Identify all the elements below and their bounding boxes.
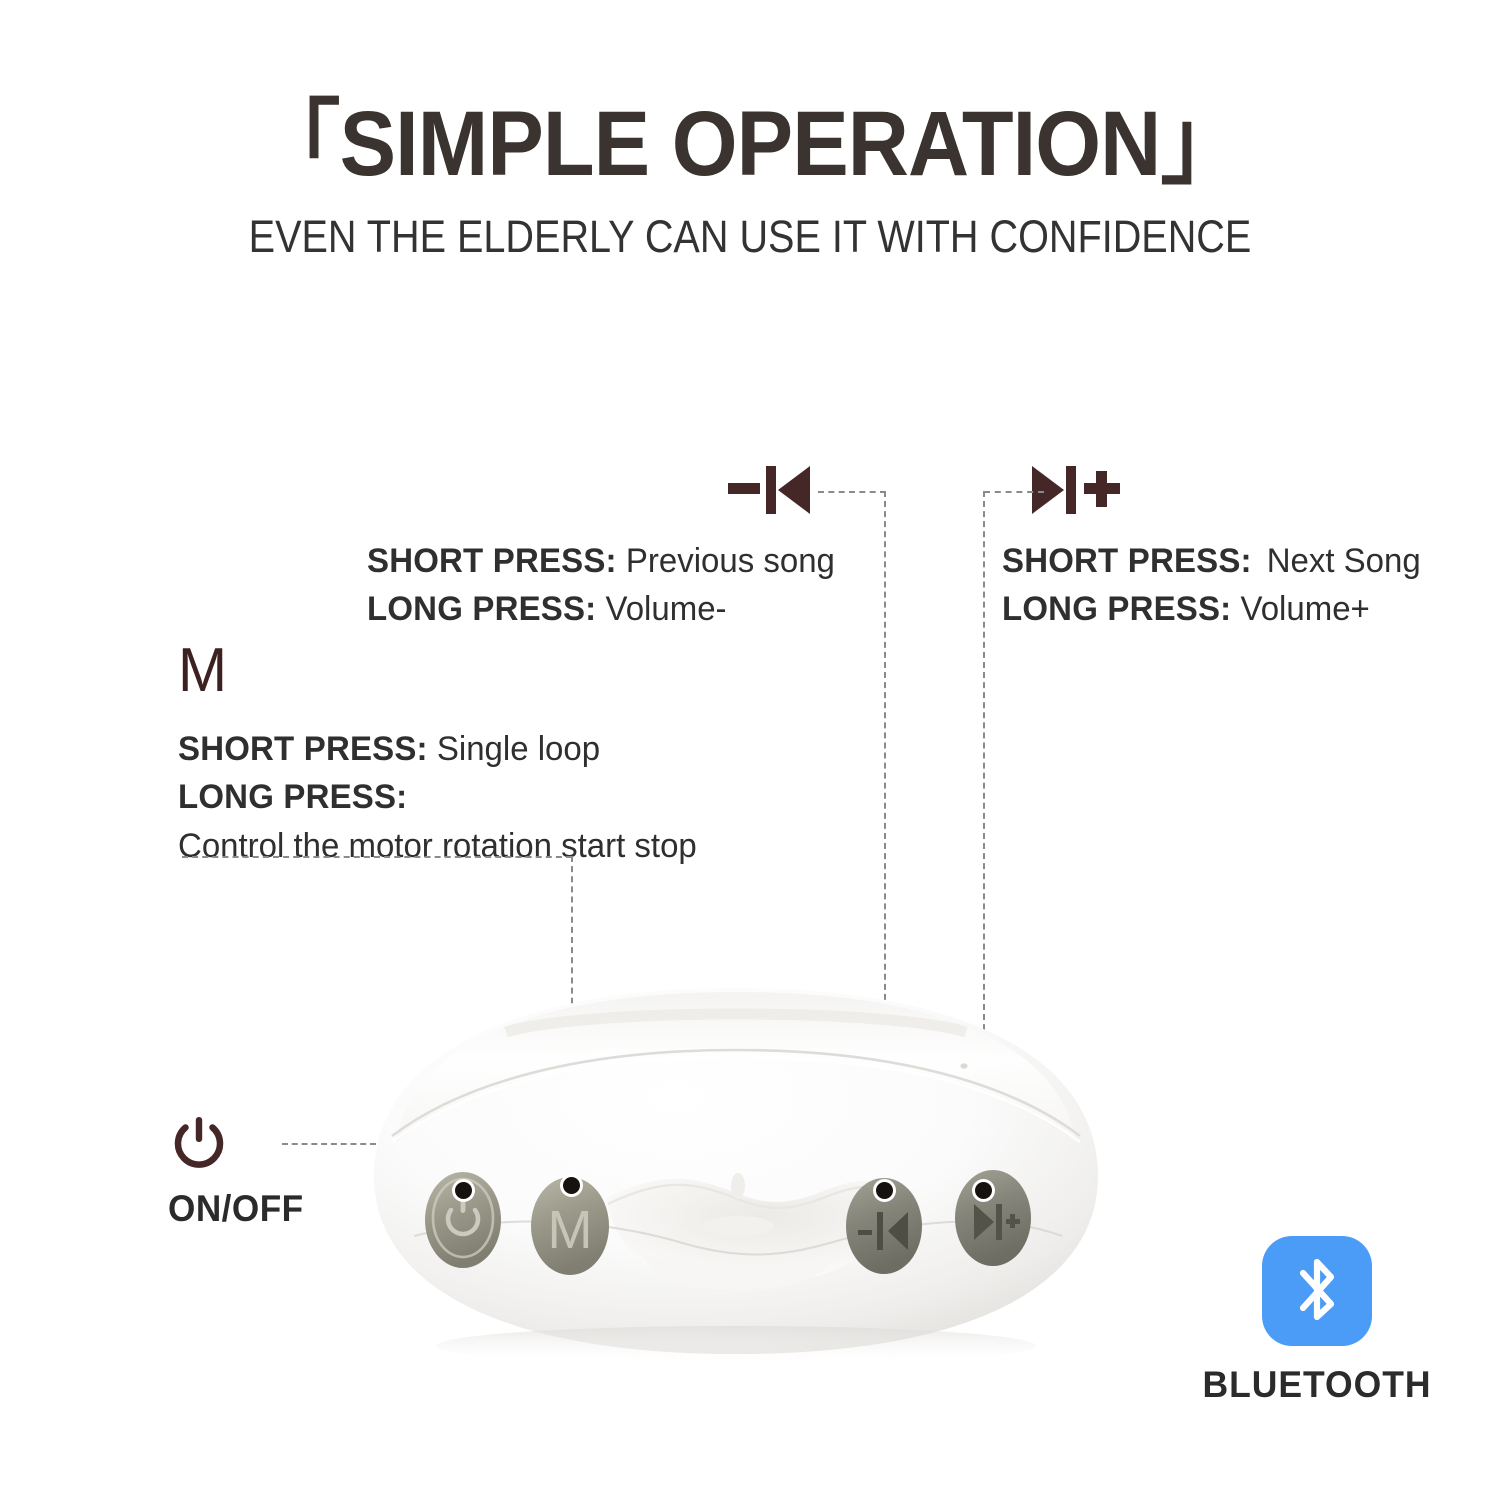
previous-track-minus-icon — [728, 462, 812, 523]
anchor-dot-mode — [563, 1177, 580, 1194]
callout-mode-short: SHORT PRESS: Single loop — [178, 725, 697, 773]
next-button[interactable] — [955, 1170, 1031, 1266]
device-pinhole — [960, 1063, 967, 1068]
callout-next-long-label: LONG PRESS: — [1002, 590, 1231, 628]
anchor-dot-previous — [876, 1182, 893, 1199]
infographic-canvas: 「SIMPLE OPERATION」 EVEN THE ELDERLY CAN … — [0, 0, 1500, 1500]
callout-previous-short-label: SHORT PRESS: — [367, 542, 617, 580]
callout-mode: M SHORT PRESS: Single loop LONG PRESS: C… — [178, 640, 713, 870]
device-dimple-inner — [702, 1216, 774, 1236]
callout-next-long: LONG PRESS: Volume+ — [1002, 585, 1421, 633]
heading-block: 「SIMPLE OPERATION」 EVEN THE ELDERLY CAN … — [0, 96, 1500, 263]
mode-glyph-m: M — [178, 640, 686, 702]
callout-previous-song: SHORT PRESS: Previous song LONG PRESS: V… — [367, 537, 849, 634]
power-label: ON/OFF — [168, 1188, 304, 1230]
callout-next-short: SHORT PRESS: Next Song — [1002, 537, 1421, 585]
anchor-dot-power — [455, 1182, 472, 1199]
callout-mode-long-label: LONG PRESS: — [178, 778, 407, 816]
callout-power: ON/OFF — [168, 1113, 311, 1230]
svg-text:M: M — [548, 1200, 593, 1260]
callout-next-long-value: Volume+ — [1241, 590, 1370, 628]
callout-previous-short-value: Previous song — [626, 542, 835, 580]
callout-next-song: SHORT PRESS: Next Song LONG PRESS: Volum… — [1002, 537, 1434, 634]
page-title: 「SIMPLE OPERATION」 — [60, 96, 1440, 193]
callout-previous-short: SHORT PRESS: Previous song — [367, 537, 835, 585]
callout-next-short-label: SHORT PRESS: — [1002, 542, 1252, 580]
callout-mode-long-value: Control the motor rotation start stop — [178, 822, 697, 870]
anchor-dot-next — [975, 1182, 992, 1199]
bluetooth-label: BLUETOOTH — [1197, 1364, 1437, 1406]
device-ground-shadow — [436, 1326, 1036, 1366]
callout-mode-long-label-row: LONG PRESS: — [178, 773, 697, 821]
bluetooth-group: BLUETOOTH — [1192, 1236, 1442, 1406]
leader-previous-horizontal — [818, 491, 886, 493]
callout-previous-long-value: Volume- — [606, 590, 727, 628]
callout-previous-long: LONG PRESS: Volume- — [367, 585, 835, 633]
power-icon — [168, 1113, 311, 1180]
page-subtitle: EVEN THE ELDERLY CAN USE IT WITH CONFIDE… — [90, 211, 1410, 263]
device-svg: M — [356, 968, 1116, 1368]
callout-previous-long-label: LONG PRESS: — [367, 590, 596, 628]
device-led-drop — [731, 1173, 745, 1199]
device-illustration: M — [356, 968, 1116, 1368]
callout-next-short-value: Next Song — [1261, 542, 1421, 580]
next-track-plus-icon — [1032, 462, 1124, 523]
callout-mode-short-label: SHORT PRESS: — [178, 730, 428, 768]
bluetooth-icon — [1262, 1236, 1372, 1346]
callout-mode-short-value: Single loop — [437, 730, 600, 768]
